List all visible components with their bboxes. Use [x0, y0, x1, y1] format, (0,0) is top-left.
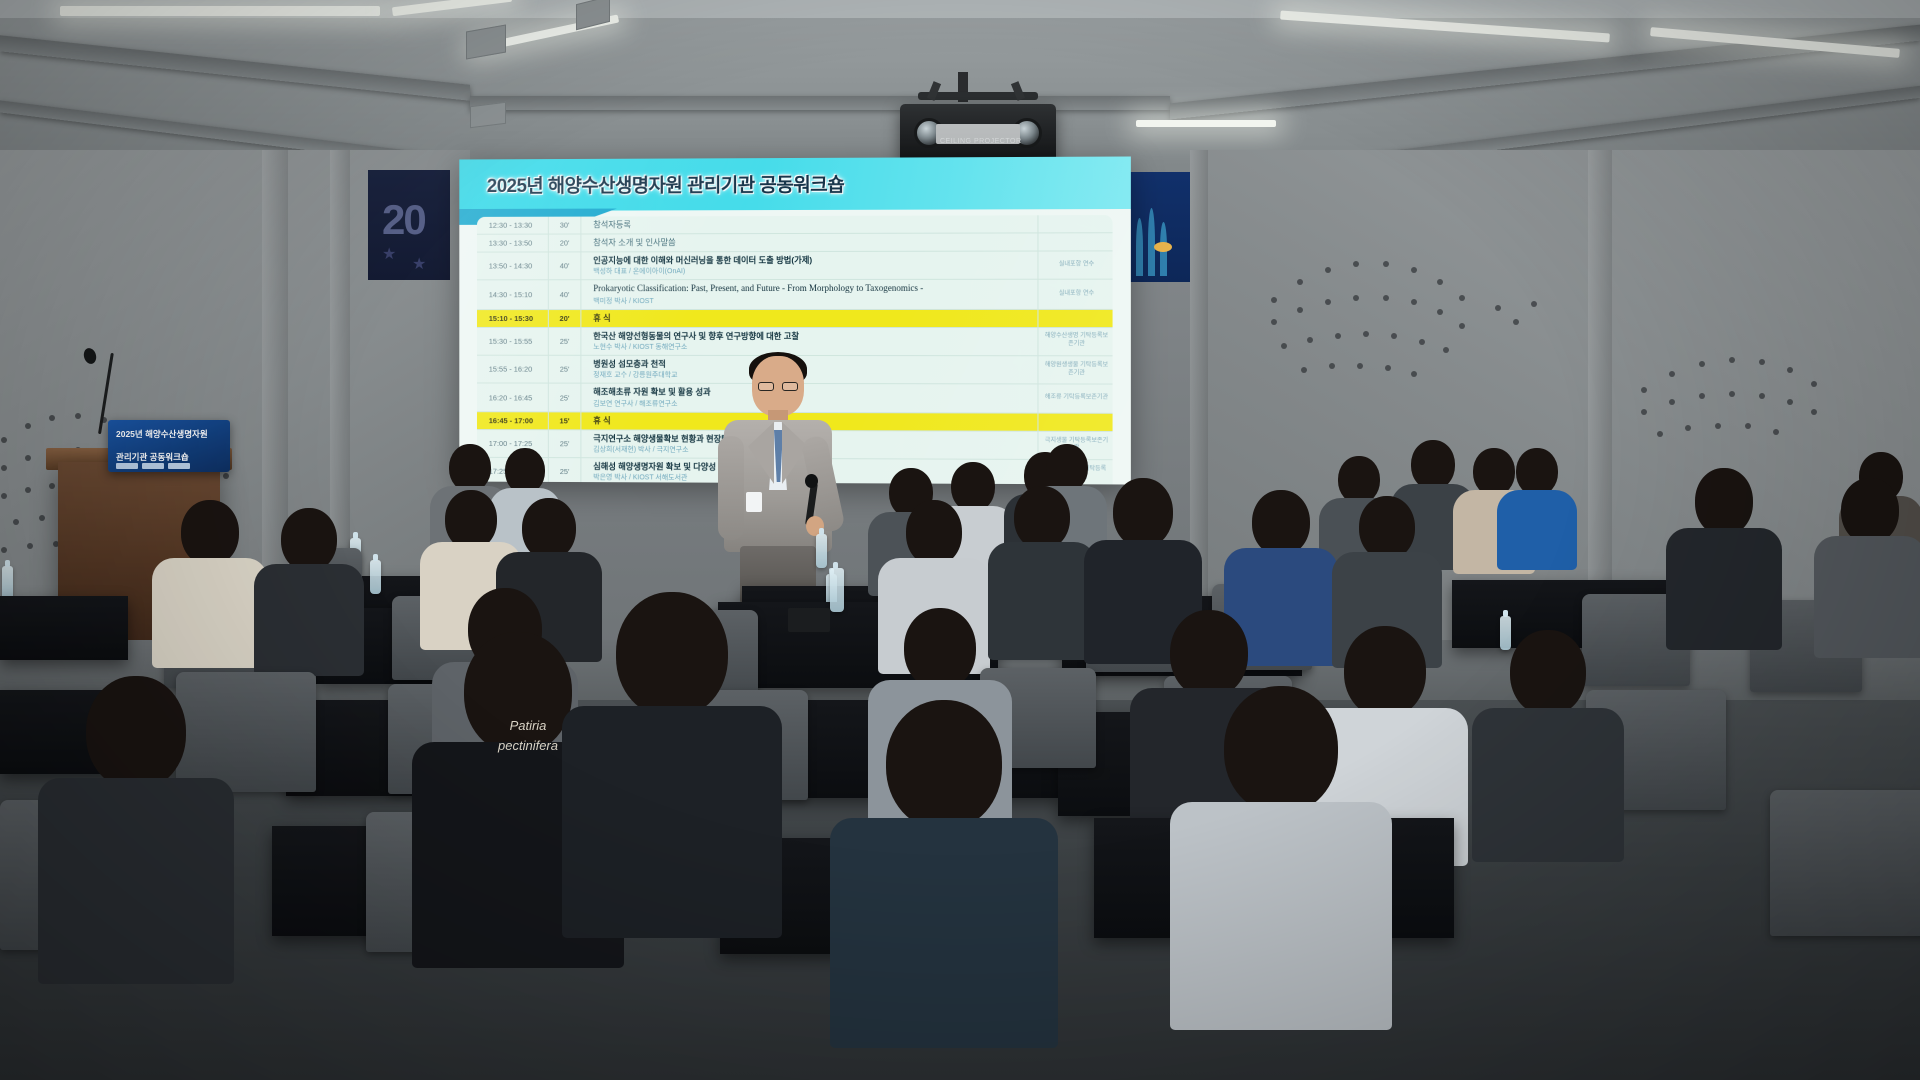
- cell-speaker: 백성하 대표 / 온에이아이(OnAI): [593, 266, 1031, 277]
- podium-sponsor-logos: [116, 463, 190, 469]
- banner-star-icon: ★: [382, 244, 396, 264]
- attendee-head: [522, 498, 576, 560]
- conference-room-photo: CEILING PROJECTOR: [0, 0, 1920, 1080]
- cell-time: 14:30 - 15:10: [477, 281, 548, 309]
- cell-duration: 25': [548, 384, 582, 411]
- fish-icon: [1154, 242, 1172, 252]
- attendee-head: [449, 444, 491, 492]
- wall-panel-right: [1128, 172, 1190, 282]
- cell-note: 해양원생생물 기탁등록보존기관: [1037, 356, 1112, 384]
- cell-time: 16:20 - 16:45: [477, 384, 548, 411]
- cell-title: 참석자등록: [593, 218, 1031, 230]
- cell-time: 12:30 - 13:30: [477, 217, 548, 234]
- cell-speaker: 노현수 박사 / KIOST 동해연구소: [593, 342, 1031, 352]
- attendee-head: [445, 490, 497, 550]
- cell-content: 한국산 해양선형동물의 연구사 및 향후 연구방향에 대한 고찰 노현수 박사 …: [581, 328, 1037, 356]
- attendee-body: [1814, 536, 1920, 658]
- cell-duration: 30': [548, 217, 582, 234]
- water-bottle: [816, 534, 827, 568]
- attendee-head: [1224, 686, 1338, 814]
- cell-time: 16:45 - 17:00: [477, 412, 548, 429]
- attendee-body: [152, 558, 268, 668]
- podium-sign: 2025년 해양수산생명자원 관리기관 공동워크숍: [108, 420, 230, 472]
- attendee-head: [1510, 630, 1586, 716]
- attendee-body: [1170, 802, 1392, 1030]
- attendee-head: [1695, 468, 1753, 536]
- attendee-body: [1472, 708, 1624, 862]
- attendee: [1470, 630, 1626, 856]
- cell-title: 휴 식: [593, 313, 1031, 323]
- cell-content: Prokaryotic Classification: Past, Presen…: [581, 280, 1037, 309]
- seaweed-decor: [1148, 208, 1155, 276]
- attendee-head: [1841, 478, 1899, 544]
- cell-content: 참석자 소개 및 인사말씀: [581, 233, 1037, 251]
- cell-duration: 15': [548, 412, 582, 429]
- table-row-break: 15:10 - 15:30 20' 휴 식: [477, 310, 1113, 328]
- water-bottle: [830, 568, 844, 612]
- table-row: 13:30 - 13:50 20' 참석자 소개 및 인사말씀: [477, 233, 1113, 252]
- glasses-icon: [782, 382, 798, 391]
- cell-duration: 20': [548, 234, 582, 251]
- ceiling-light: [1136, 120, 1276, 127]
- attendee-body: [1497, 490, 1577, 570]
- water-bottle: [370, 560, 381, 594]
- attendee-head: [886, 700, 1002, 830]
- glasses-icon: [758, 382, 774, 391]
- chair: [1770, 790, 1920, 936]
- cell-note: [1037, 310, 1112, 327]
- attendee: [1664, 468, 1784, 646]
- shirt-print-line: Patiria: [468, 716, 588, 736]
- attendee-head: [904, 608, 976, 690]
- attendee-head: [281, 508, 337, 572]
- attendee-body: [562, 706, 782, 938]
- ceiling-projector: CEILING PROJECTOR: [900, 104, 1056, 162]
- cell-title: 한국산 해양선형동물의 연구사 및 향후 연구방향에 대한 고찰: [593, 331, 1031, 342]
- slide-title: 2025년 해양수산생명자원 관리기관 공동워크숍: [487, 170, 844, 198]
- attendee-head: [616, 592, 728, 718]
- attendee-head: [1014, 486, 1070, 550]
- attendee-head: [1170, 610, 1248, 698]
- podium-sign-line2: 관리기관 공동워크숍: [116, 451, 189, 463]
- cell-content: 휴 식: [581, 310, 1037, 327]
- cell-time: 15:30 - 15:55: [477, 328, 548, 355]
- cell-content: 참석자등록: [581, 215, 1037, 233]
- table-row: 15:30 - 15:55 25' 한국산 해양선형동물의 연구사 및 향후 연…: [477, 328, 1113, 357]
- dot-pattern-decor: [1250, 190, 1580, 430]
- attendee: [828, 700, 1060, 1040]
- attendee-head: [1516, 448, 1558, 496]
- projector-brand-text: CEILING PROJECTOR: [940, 138, 1022, 145]
- table-row: 13:50 - 14:30 40' 인공지능에 대한 이해와 머신러닝을 통한 …: [477, 251, 1113, 280]
- air-vent: [576, 0, 610, 30]
- attendee-head: [1411, 440, 1455, 490]
- attendee: [1496, 448, 1578, 566]
- cell-title: 인공지능에 대한 이해와 머신러닝을 통한 데이터 도출 방법(가제): [593, 255, 1031, 266]
- podium-sign-line1: 2025년 해양수산생명자원: [116, 429, 208, 440]
- cell-duration: 40': [548, 281, 582, 309]
- attendee-body: [38, 778, 234, 984]
- attendee-head: [1113, 478, 1173, 548]
- attendee-head: [1359, 496, 1415, 560]
- shirt-print-line: pectinifera: [468, 736, 588, 756]
- cell-duration: 20': [548, 310, 582, 327]
- cell-content: 인공지능에 대한 이해와 머신러닝을 통한 데이터 도출 방법(가제) 백성하 …: [581, 252, 1037, 280]
- table-row: 14:30 - 15:10 40' Prokaryotic Classifica…: [477, 280, 1113, 310]
- wall-banner-left: 20 ★ ★: [368, 170, 450, 280]
- microphone-head-icon: [805, 474, 818, 488]
- cell-note: 해조류 기탁등록보존기관: [1037, 385, 1112, 413]
- seaweed-decor: [1136, 218, 1143, 276]
- attendee-head: [1252, 490, 1310, 556]
- attendee-head: [906, 500, 962, 566]
- cell-note: 실내포항 연수: [1037, 251, 1112, 279]
- cell-title: Prokaryotic Classification: Past, Presen…: [593, 283, 1031, 295]
- presenter-head: [752, 356, 804, 416]
- cell-time: 15:55 - 16:20: [477, 356, 548, 383]
- attendee-body: [254, 564, 364, 676]
- attendee: [560, 592, 784, 932]
- cell-note: [1037, 233, 1112, 250]
- cell-note: 해양수산생명 기탁등록보존기관: [1037, 328, 1112, 356]
- attendee: [1812, 478, 1920, 654]
- attendee-body: [830, 818, 1058, 1048]
- cell-note: [1037, 413, 1112, 430]
- cell-note: 실내포항 연수: [1037, 280, 1112, 309]
- ceiling-light: [60, 6, 380, 16]
- shirt-print: Patiria pectinifera: [468, 716, 588, 800]
- presenter-arm-left: [718, 436, 744, 540]
- cell-duration: 25': [548, 356, 582, 383]
- table: [0, 596, 128, 660]
- attendee-body: [1666, 528, 1782, 650]
- air-vent: [470, 102, 506, 128]
- attendee: [1168, 686, 1394, 1022]
- cell-time: 15:10 - 15:30: [477, 310, 548, 327]
- air-vent: [466, 24, 506, 59]
- cell-duration: 40': [548, 252, 582, 279]
- banner-star-icon: ★: [412, 254, 426, 274]
- attendee-head: [86, 676, 186, 790]
- cell-title: 참석자 소개 및 인사말씀: [593, 236, 1031, 247]
- name-badge: [746, 492, 762, 512]
- attendee: [252, 508, 366, 670]
- water-bottle: [2, 566, 13, 600]
- cell-speaker: 백미정 박사 / KIOST: [593, 295, 1031, 305]
- cell-time: 13:50 - 14:30: [477, 252, 548, 279]
- smartphone: [1088, 768, 1110, 780]
- cell-time: 13:30 - 13:50: [477, 235, 548, 252]
- cell-duration: 25': [548, 328, 582, 355]
- laptop: [788, 608, 830, 632]
- table-row: 12:30 - 13:30 30' 참석자등록: [477, 215, 1113, 235]
- banner-number: 20: [382, 196, 425, 244]
- cell-note: [1037, 215, 1112, 232]
- attendee: [36, 676, 236, 976]
- attendee-head: [181, 500, 239, 566]
